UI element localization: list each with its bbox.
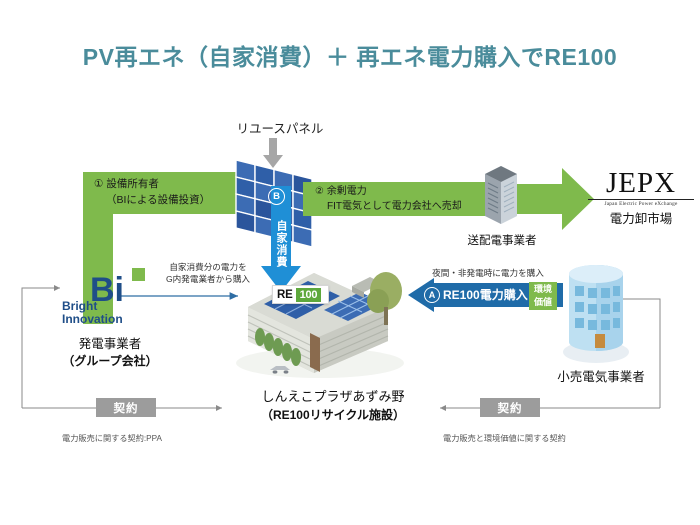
contract-box-left: 契約 bbox=[96, 398, 156, 417]
grid-operator-label: 送配電事業者 bbox=[447, 232, 557, 248]
reuse-panel-label: リユースパネル bbox=[190, 118, 370, 137]
diagram-canvas: PV再エネ（自家消費）＋ 再エネ電力購入でRE100 ① bbox=[0, 0, 700, 525]
flow-two-line1: 余剰電力 bbox=[327, 186, 367, 197]
flow-one-number: ① bbox=[94, 178, 103, 190]
internal-purchase-note-line1: 自家消費分の電力を bbox=[169, 262, 246, 272]
jepx-logo: JEPX Japan Electric Power eXchange bbox=[586, 168, 696, 207]
generator-role-label: 発電事業者 （グループ会社） bbox=[40, 336, 180, 370]
office-tower-icon bbox=[557, 258, 635, 368]
facility-name-sub: （RE100リサイクル施設） bbox=[228, 406, 438, 424]
jepx-wordmark: JEPX bbox=[586, 168, 696, 198]
retailer-label: 小売電気事業者 bbox=[536, 366, 666, 385]
server-rack-icon bbox=[479, 166, 521, 230]
generator-role-line2: （グループ会社） bbox=[40, 353, 180, 370]
flow-one-text: ① 設備所有者 （BIによる設備投資） bbox=[94, 176, 254, 208]
badge-a: A bbox=[424, 287, 440, 303]
bi-word-line2: Innovation bbox=[62, 312, 123, 326]
re100-prefix: RE bbox=[273, 289, 296, 301]
flow-two-number: ② bbox=[315, 186, 324, 197]
contract-note-left: 電力販売に関する契約:PPA bbox=[62, 432, 162, 444]
environmental-value-badge: 環境 価値 bbox=[529, 282, 557, 310]
contract-box-right: 契約 bbox=[480, 398, 540, 417]
facility-name: しんえこプラザあずみ野 （RE100リサイクル施設） bbox=[228, 388, 438, 424]
facility-name-main: しんえこプラザあずみ野 bbox=[261, 389, 404, 404]
jepx-subtitle: Japan Electric Power eXchange bbox=[588, 199, 694, 207]
re100-number: 100 bbox=[296, 288, 322, 302]
jepx-market-label: 電力卸市場 bbox=[586, 208, 696, 227]
generator-role-line1: 発電事業者 bbox=[79, 337, 142, 351]
re100-purchase-text: RE100電力購入 bbox=[443, 286, 528, 303]
env-value-line1: 環境 bbox=[534, 284, 552, 294]
internal-purchase-note: 自家消費分の電力を G内発電業者から購入 bbox=[148, 261, 268, 285]
bi-word-line1: Bright bbox=[62, 299, 97, 313]
re100-sign: RE 100 bbox=[272, 285, 329, 304]
flow-one-line1: 設備所有者 bbox=[106, 178, 159, 190]
page-title: PV再エネ（自家消費）＋ 再エネ電力購入でRE100 bbox=[0, 38, 700, 72]
bright-innovation-wordmark: Bright Innovation bbox=[62, 300, 146, 326]
flow-one-line2: （BIによる設備投資） bbox=[94, 192, 254, 208]
contract-note-right: 電力販売と環境価値に関する契約 bbox=[443, 432, 566, 444]
env-value-line2: 価値 bbox=[534, 297, 552, 307]
internal-purchase-note-line2: G内発電業者から購入 bbox=[166, 274, 250, 284]
